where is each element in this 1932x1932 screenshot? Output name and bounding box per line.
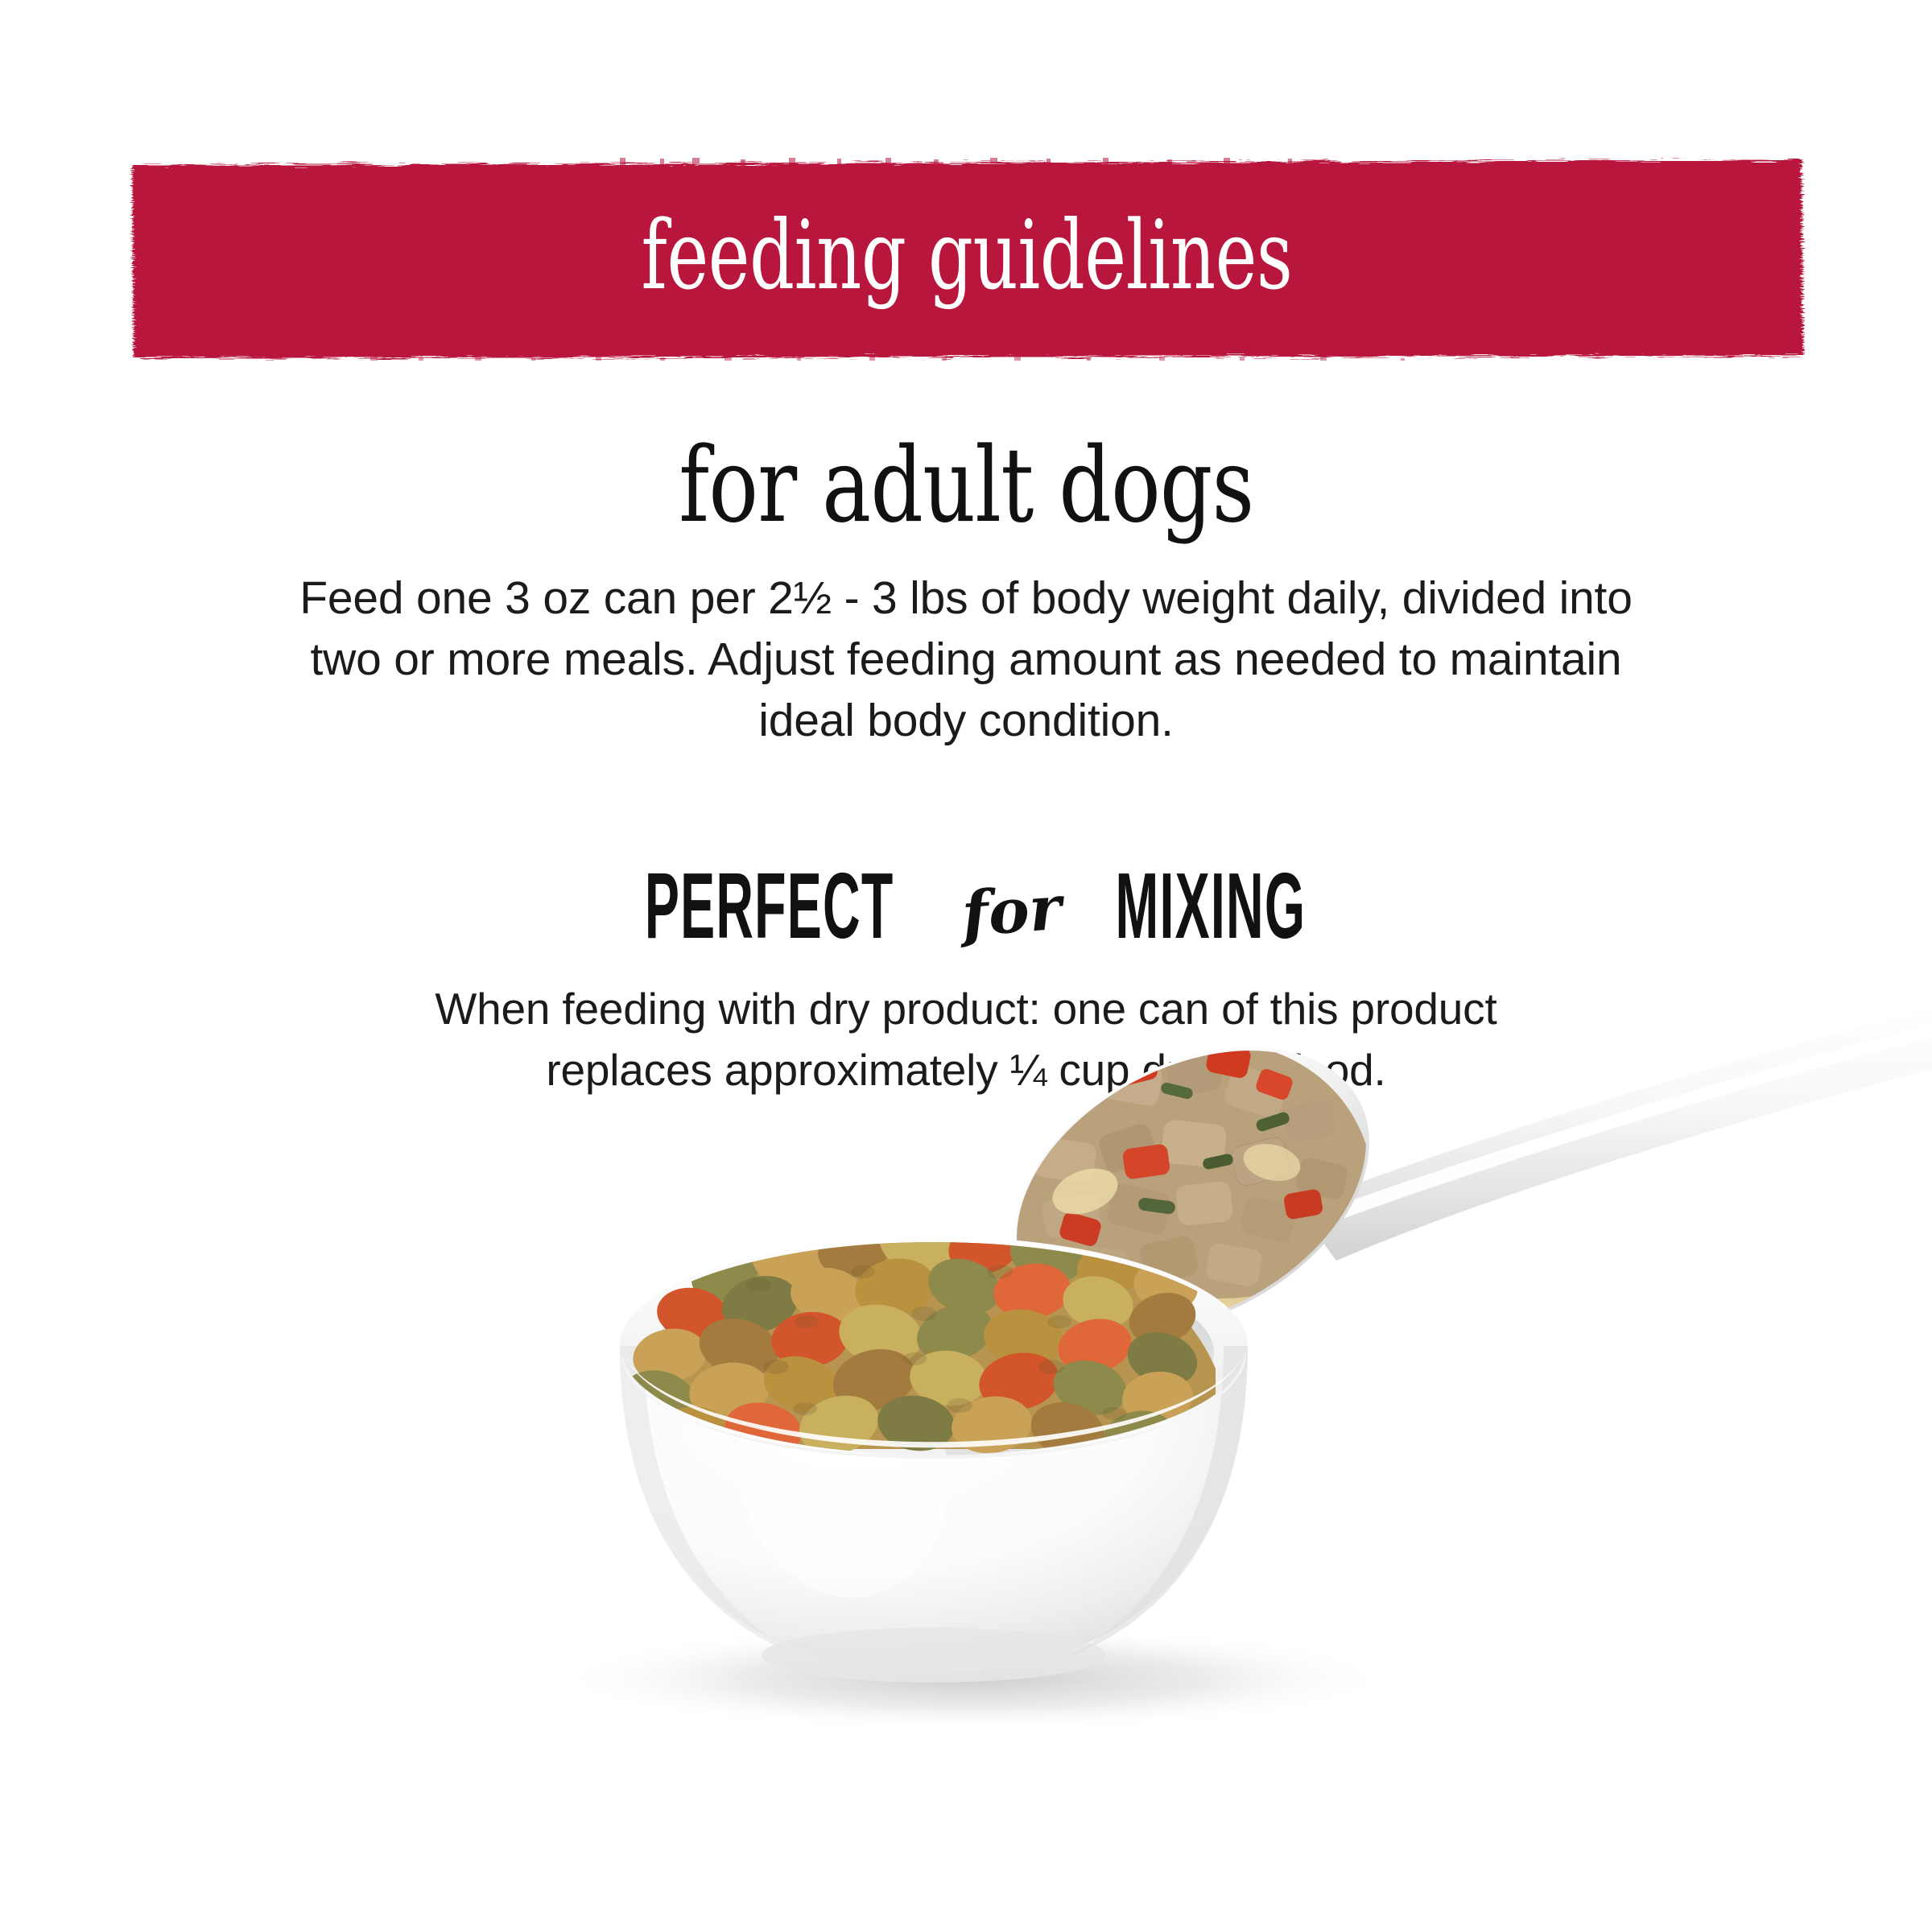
mixing-word-perfect: PERFECT [645,860,894,953]
bowl-and-spoon-illustration [0,950,1932,1932]
mixing-word-mixing: MIXING [1115,860,1306,953]
bowl-foot-shadow [762,1628,1106,1682]
section-heading-adult-dogs: for adult dogs [0,435,1932,538]
feeding-line-1: Feed one 3 oz can per 2½ - 3 lbs of body… [177,568,1755,629]
section-heading-adult-dogs-text: for adult dogs [679,435,1253,538]
feeding-guidelines-page: feeding guidelines for adult dogs Feed o… [0,0,1932,1932]
perfect-for-mixing-heading: PERFECT for MIXING [0,858,1932,955]
feeding-line-3: ideal body condition. [177,690,1755,751]
feeding-line-2: two or more meals. Adjust feeding amount… [177,629,1755,690]
feeding-instructions-paragraph: Feed one 3 oz can per 2½ - 3 lbs of body… [177,568,1755,751]
mixing-script-for: for [960,877,1063,945]
feeding-guidelines-banner: feeding guidelines [129,158,1805,361]
banner-title: feeding guidelines [347,158,1587,361]
spoon-handle [1296,1008,1932,1261]
product-photo [0,950,1932,1932]
